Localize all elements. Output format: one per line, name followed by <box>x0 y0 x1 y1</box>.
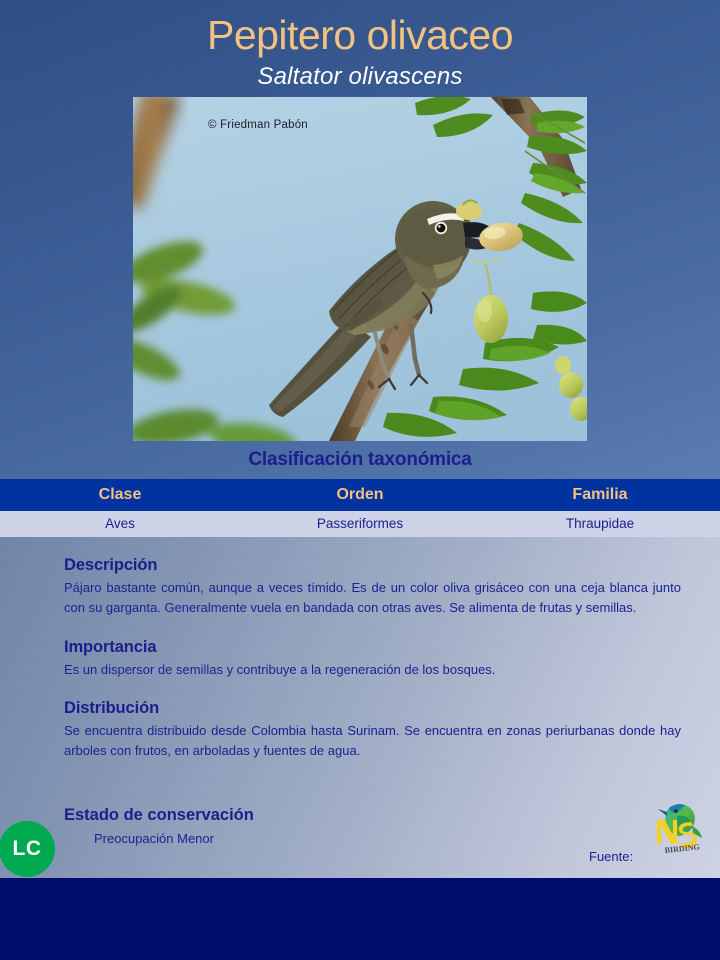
taxonomy-value-clase: Aves <box>0 511 240 537</box>
source-label: Fuente: <box>589 849 633 864</box>
status-badge: LC <box>0 821 55 877</box>
species-info-card: Pepitero olivaceo Saltator olivascens <box>0 0 720 960</box>
content-column: Descripción Pájaro bastante común, aunqu… <box>64 556 681 778</box>
section-heading-importancia: Importancia <box>64 638 681 657</box>
taxonomy-column-clase: Clase <box>0 479 240 511</box>
section-text-descripcion: Pájaro bastante común, aunque a veces tí… <box>64 578 681 618</box>
page-title: Pepitero olivaceo <box>0 14 720 57</box>
taxonomy-header-row: Clase Orden Familia <box>0 479 720 511</box>
section-heading-descripcion: Descripción <box>64 556 681 575</box>
ns-birding-logo: BIRDING <box>645 800 707 858</box>
footer-section: COMFAORIENTE Vigilado Superintendencia <box>0 878 720 960</box>
taxonomy-title: Clasificación taxonómica <box>0 449 720 471</box>
table-row: Aves Passeriformes Thraupidae <box>0 511 720 537</box>
scientific-name: Saltator olivascens <box>0 63 720 91</box>
section-text-distribucion: Se encuentra distribuido desde Colombia … <box>64 721 681 761</box>
photo-credit: © Friedman Pabón <box>208 119 308 131</box>
bird-photo: © Friedman Pabón <box>133 97 587 441</box>
taxonomy-column-orden: Orden <box>240 479 480 511</box>
status-badge-code: LC <box>13 837 42 861</box>
taxonomy-value-familia: Thraupidae <box>480 511 720 537</box>
header-section: Pepitero olivaceo Saltator olivascens <box>0 0 720 479</box>
ns-logo-text: BIRDING <box>664 842 700 855</box>
conservation-status-label: Preocupación Menor <box>94 831 214 846</box>
taxonomy-value-orden: Passeriformes <box>240 511 480 537</box>
taxonomy-column-familia: Familia <box>480 479 720 511</box>
section-heading-distribucion: Distribución <box>64 699 681 718</box>
section-text-importancia: Es un dispersor de semillas y contribuye… <box>64 660 681 680</box>
conservation-heading: Estado de conservación <box>64 806 254 825</box>
